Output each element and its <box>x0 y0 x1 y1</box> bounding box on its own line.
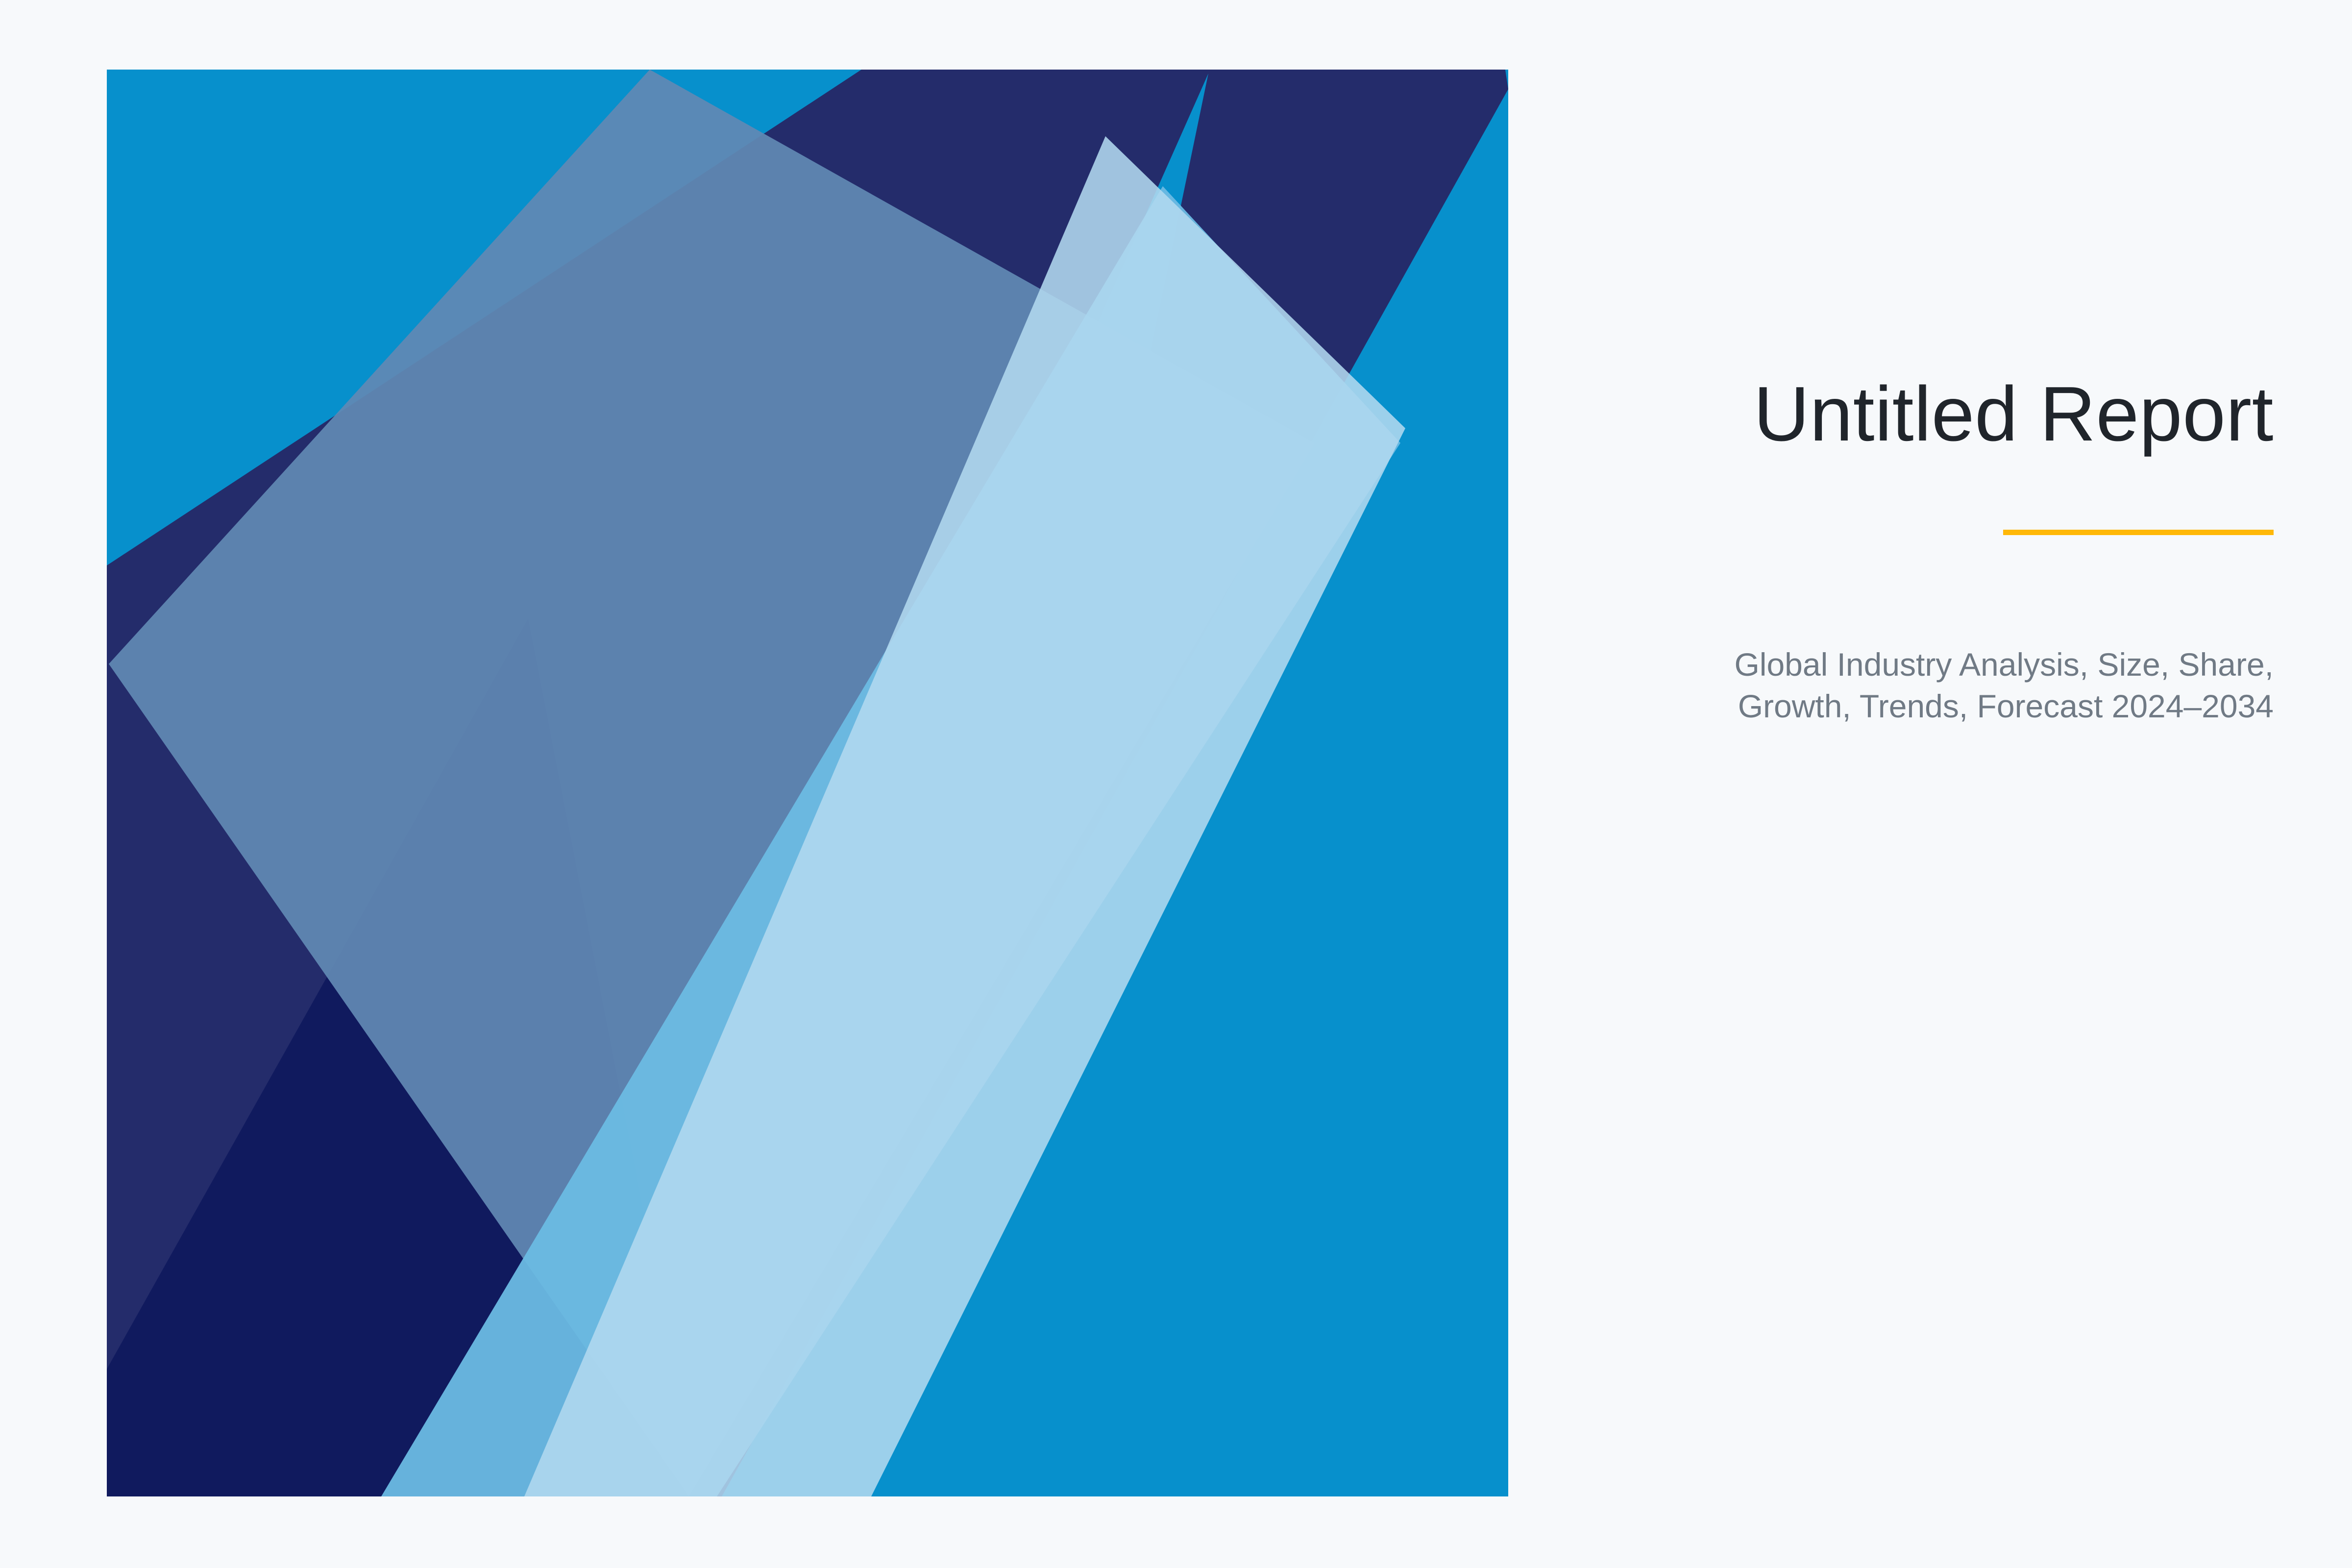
title-underline-rule <box>2003 530 2274 535</box>
page-subtitle-line-1: Global Industry Analysis, Size, Share, <box>1734 646 2274 683</box>
cover-text-block: Untitled Report Global Industry Analysis… <box>1558 372 2274 728</box>
cover-artwork-svg <box>107 70 1508 1496</box>
page-title: Untitled Report <box>1558 372 2274 456</box>
page-subtitle-line-2: Growth, Trends, Forecast 2024–2034 <box>1738 688 2274 724</box>
abstract-geometric-cover-graphic <box>107 70 1508 1496</box>
report-cover-page: Untitled Report Global Industry Analysis… <box>0 0 2352 1568</box>
page-subtitle: Global Industry Analysis, Size, Share, G… <box>1558 644 2274 728</box>
